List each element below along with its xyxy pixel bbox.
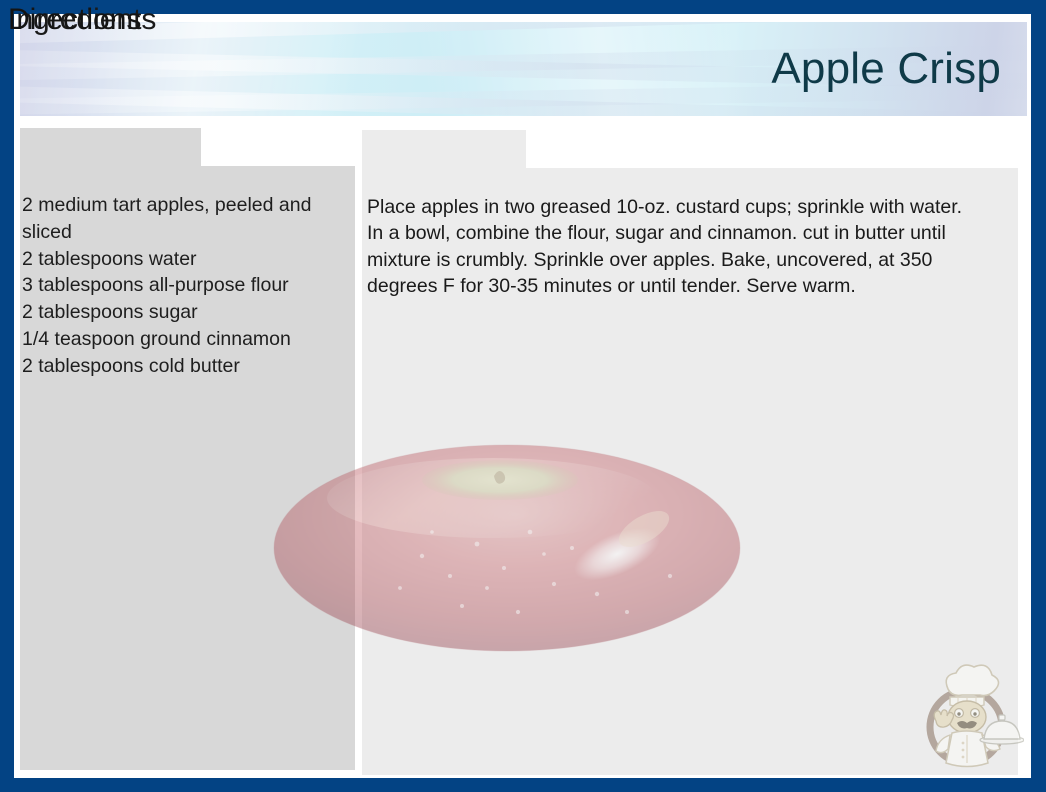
frame-bottom-border bbox=[0, 778, 1046, 792]
list-item: 2 tablespoons water bbox=[22, 246, 352, 273]
directions-tab bbox=[362, 130, 526, 168]
list-item: 2 tablespoons sugar bbox=[22, 299, 352, 326]
list-item: 2 medium tart apples, peeled and sliced bbox=[22, 192, 352, 246]
ingredients-list: 2 medium tart apples, peeled and sliced … bbox=[22, 192, 352, 380]
slide-canvas: Apple Crisp Ingredients 2 medium tart ap… bbox=[0, 0, 1046, 792]
title-banner: Apple Crisp bbox=[20, 22, 1027, 116]
frame-left-border bbox=[0, 0, 14, 792]
list-item: 2 tablespoons cold butter bbox=[22, 353, 352, 380]
page-title: Apple Crisp bbox=[771, 47, 1001, 91]
ingredients-tab bbox=[20, 128, 201, 166]
list-item: 3 tablespoons all-purpose flour bbox=[22, 272, 352, 299]
frame-top-border bbox=[0, 0, 1046, 14]
frame-right-border bbox=[1031, 0, 1046, 792]
list-item: 1/4 teaspoon ground cinnamon bbox=[22, 326, 352, 353]
directions-heading: Directions bbox=[8, 1, 141, 38]
directions-body-text: Place apples in two greased 10-oz. custa… bbox=[367, 194, 979, 299]
banner-streak bbox=[20, 22, 1027, 46]
